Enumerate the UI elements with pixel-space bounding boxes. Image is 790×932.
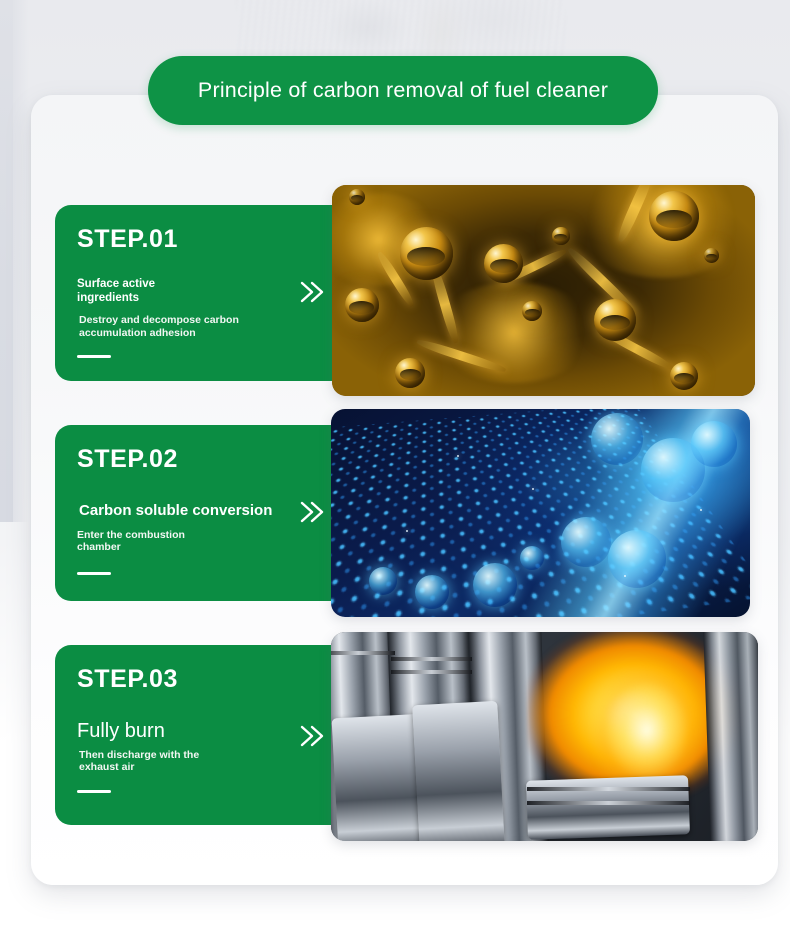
step-headline-line-1b: ingredients <box>77 292 139 304</box>
step-text-block-2: Carbon soluble conversion Enter the comb… <box>77 502 335 575</box>
step-panel-1: STEP.01 Surface active ingredients Destr… <box>55 205 335 381</box>
step-item-3[interactable]: STEP.03 Fully burn Then discharge with t… <box>0 625 790 845</box>
double-chevron-right-icon <box>298 499 326 525</box>
step-image-1 <box>332 185 755 396</box>
page-root: Principle of carbon removal of fuel clea… <box>0 0 790 932</box>
double-chevron-right-icon <box>298 723 326 749</box>
molecule-illustration <box>332 185 755 396</box>
piston-flame-illustration <box>331 632 758 841</box>
step-panel-3: STEP.03 Fully burn Then discharge with t… <box>55 645 335 825</box>
double-chevron-right-icon <box>298 279 326 305</box>
step-sub-line-1a: Destroy and decompose carbon <box>79 314 239 326</box>
step-sub-line-1b: accumulation adhesion <box>79 327 196 339</box>
step-sub-line-2a: Enter the combustion <box>77 529 185 541</box>
step-item-2[interactable]: STEP.02 Carbon soluble conversion Enter … <box>0 405 790 620</box>
step-divider-2 <box>77 572 111 575</box>
step-text-block-3: Fully burn Then discharge with the exhau… <box>77 720 335 793</box>
step-sub-line-3b: exhaust air <box>79 761 134 773</box>
step-sub-2: Enter the combustion chamber <box>77 529 335 554</box>
step-divider-3 <box>77 790 111 793</box>
step-item-1[interactable]: STEP.01 Surface active ingredients Destr… <box>0 185 790 400</box>
page-title-banner: Principle of carbon removal of fuel clea… <box>148 56 658 125</box>
step-image-3 <box>331 632 758 841</box>
step-label-1: STEP.01 <box>77 227 335 252</box>
step-headline-line-1a: Surface active <box>77 278 155 290</box>
background-ghost-image <box>236 0 566 60</box>
step-headline-3: Fully burn <box>77 720 335 744</box>
step-sub-3: Then discharge with the exhaust air <box>79 749 335 774</box>
step-label-3: STEP.03 <box>77 667 335 692</box>
step-sub-line-3a: Then discharge with the <box>79 749 199 761</box>
step-divider-1 <box>77 355 111 358</box>
step-sub-line-2b: chamber <box>77 541 121 553</box>
step-text-block-1: Surface active ingredients Destroy and d… <box>77 278 335 358</box>
step-panel-2: STEP.02 Carbon soluble conversion Enter … <box>55 425 335 601</box>
step-headline-2: Carbon soluble conversion <box>79 502 335 520</box>
step-image-2 <box>331 409 750 617</box>
step-sub-1: Destroy and decompose carbon accumulatio… <box>79 314 335 339</box>
step-headline-1: Surface active ingredients <box>77 278 335 305</box>
page-title: Principle of carbon removal of fuel clea… <box>198 78 608 103</box>
step-label-2: STEP.02 <box>77 447 335 472</box>
nano-lattice-illustration <box>331 409 750 617</box>
